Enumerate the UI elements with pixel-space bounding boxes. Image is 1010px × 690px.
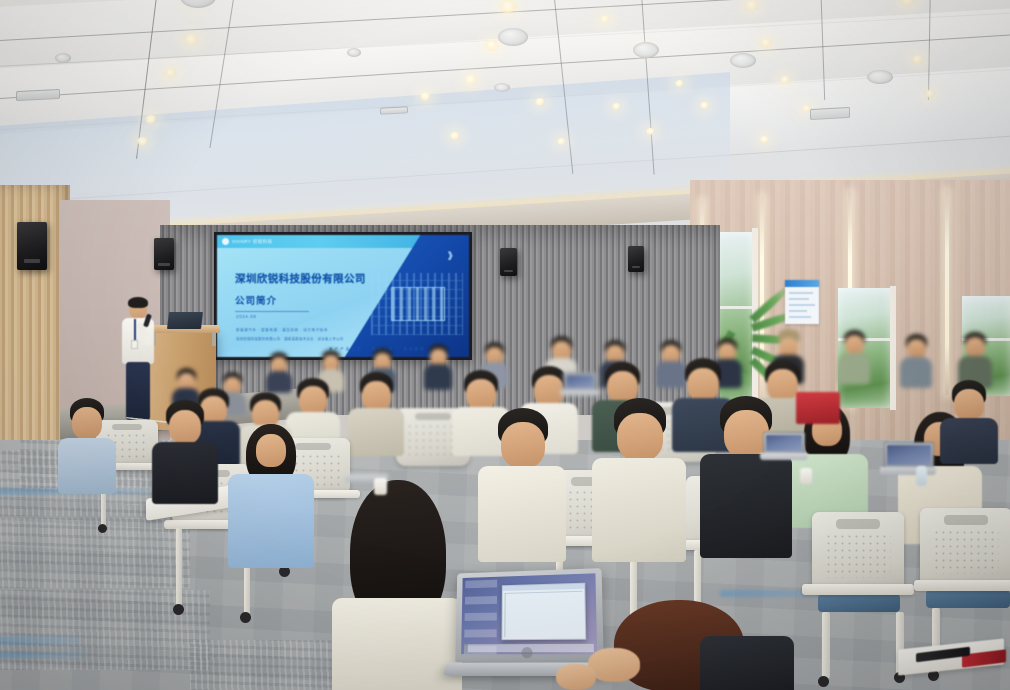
laptop-lid [455,568,603,663]
presenter-hair [128,297,148,308]
presenter-legs [126,362,150,420]
slide-device-graphic [391,287,445,321]
podium-laptop [167,312,203,329]
window-title-bar[interactable] [503,584,585,591]
projection-screen: SHINRY 欣锐科技 》 深圳欣锐科技股份有限公司 公司简介 2024.08 … [214,232,472,360]
wall-poster [785,280,819,324]
wall-speaker-left [17,222,47,270]
water-cup-2 [800,468,812,484]
slide-fine-print-1: 新能源汽车 · 智能电源 · 高压系统 · 动力电子技术 [236,328,328,333]
presenter-badge [131,340,138,349]
slide-logo-text: SHINRY 欣锐科技 [232,239,273,245]
window-mullion-2 [890,286,896,410]
presentation-slide: SHINRY 欣锐科技 》 深圳欣锐科技股份有限公司 公司简介 2024.08 … [217,235,469,357]
wall-speaker-right [628,246,644,272]
slide-subtitle: 公司简介 [235,293,277,307]
slide-company-title: 深圳欣锐科技股份有限公司 [235,271,366,286]
laptop-screen[interactable] [461,573,597,654]
water-cup [374,478,387,495]
podium-leg-right [212,332,216,346]
red-bag [796,392,840,424]
wall-speaker-back-right [500,248,517,276]
spreadsheet-window[interactable] [501,583,586,641]
water-bottle [916,466,927,486]
slide-corner-chevron-icon: 》 [448,249,457,262]
slide-date: 2024.08 [236,314,256,319]
brand-logo-icon [522,647,533,658]
wall-speaker-back-left [154,238,174,270]
led-strip-3 [945,190,949,395]
slide-divider [235,311,309,312]
presenter-lanyard [134,319,136,341]
spreadsheet-grid[interactable] [504,591,583,637]
conference-room-photo: SHINRY 欣锐科技 》 深圳欣锐科技股份有限公司 公司简介 2024.08 … [0,0,1010,690]
poster-header-bar [785,280,819,287]
desktop-icons[interactable] [464,580,497,655]
slide-fine-print-2: 深圳欣锐科技股份有限公司 · 国家高新技术企业 · 创业板上市公司 [236,336,343,341]
typing-hand-2 [556,664,596,690]
company-logo-icon [222,238,229,245]
